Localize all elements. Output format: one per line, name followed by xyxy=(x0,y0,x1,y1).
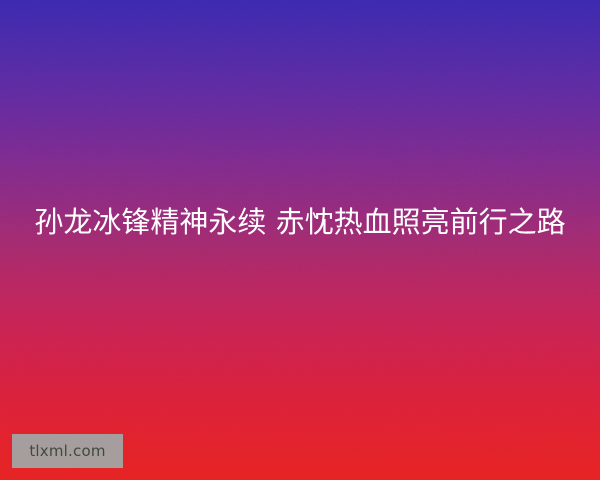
watermark-badge: tlxml.com xyxy=(12,434,123,468)
headline-text: 孙龙冰锋精神永续 赤忱热血照亮前行之路 xyxy=(30,200,570,245)
watermark-label: tlxml.com xyxy=(29,444,105,459)
title-card-canvas: 孙龙冰锋精神永续 赤忱热血照亮前行之路 tlxml.com xyxy=(0,0,600,480)
